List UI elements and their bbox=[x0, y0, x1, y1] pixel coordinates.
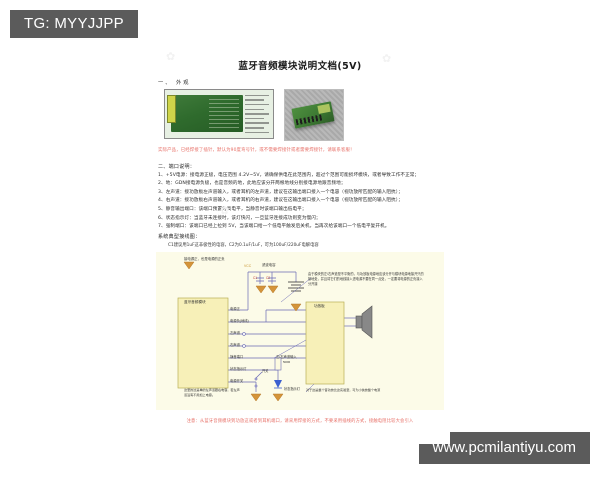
section-ports-label: 二、端口说明： bbox=[158, 163, 450, 170]
section-appearance-label: 一、 外观 bbox=[158, 79, 450, 86]
pin-label: 电源正 bbox=[230, 306, 240, 311]
filter-cap-label: 滤波电容 bbox=[262, 262, 276, 267]
pin-label: 右声道 bbox=[230, 342, 240, 347]
schematic-subnote: C1建议用1uF这非极性的电容，C2为0.1uF/1uF，可为100uF/220… bbox=[168, 242, 450, 248]
amp-block-label: 功放板 bbox=[314, 304, 325, 309]
module-photo-image bbox=[284, 89, 344, 141]
port-item: 1、+5V电源：接电源正极，电压范围 4.2V~5V，请确保供电在此范围内，超过… bbox=[158, 172, 442, 179]
pcb-top-view-image bbox=[164, 89, 274, 139]
port-item: 2、地：GDN接电源负极，也是音频的地，此地应该分开两根地线分别接电源地跟音频地… bbox=[158, 180, 442, 187]
port-item: 7、强制端口：该端口已经上拉到 5V，当该端口给一个低电平触发后关机，当再次给该… bbox=[158, 223, 442, 230]
schematic-heading: 系统典型接线图： bbox=[158, 233, 450, 240]
module-block-label: 蓝牙音频模块 bbox=[184, 300, 206, 305]
switch-label: 开关 bbox=[262, 368, 268, 373]
annotation-right: 由于模块的左/右声道是不平衡的，与功放板电源地应该分开与模块电源地接开只的接地处… bbox=[308, 272, 424, 286]
port-description-list: 1、+5V电源：接电源正极，电压范围 4.2V~5V，请确保供电在此范围内，超过… bbox=[158, 172, 442, 231]
port-item: 4、右声道：接功放板右声道输入，或者耳机的右声道，建议在这输出端口接入一个电容（… bbox=[158, 197, 442, 204]
annotation-bottom-left: 这里的这是单的左声道跟右电容，若左声道没有不用加上电容。 bbox=[184, 388, 242, 397]
port-item: 3、左声道：接功放板左声道输入，或者耳机的左声道，建议在这输出端口接入一个电容（… bbox=[158, 189, 442, 196]
resistor-label: 500R bbox=[283, 360, 290, 364]
led-label: 状态指示灯 bbox=[284, 386, 300, 391]
supply-note-label: 接电源正，也是电源的正负 bbox=[184, 256, 225, 261]
document-page: ✿ ✿ ✿ ✿ 蓝牙音频模块说明文档(5V) 一、 外观 实际产品，已经焊接了插… bbox=[150, 44, 450, 444]
tg-badge: TG: MYYJJPP bbox=[10, 10, 138, 38]
red-notice-top: 实际产品，已经焊接了插针，默认为90度弯号针，或不需要焊接针或者需要焊接针，请联… bbox=[158, 148, 442, 155]
red-notice-bottom: 注意：从蓝牙音频模块到功放这或者到耳机端口，请采用焊接的方式，不要采用插线的方式… bbox=[158, 419, 442, 425]
pin-label: 电源开关 bbox=[230, 378, 243, 383]
port-item: 5、静音输出端口：该端口预置为高电平，当静音时该端口输出低电平； bbox=[158, 206, 442, 213]
pin-label: 静音端口 bbox=[230, 354, 243, 359]
wiring-diagram: 接电源正，也是电源的正负 VCC 滤波电容 C1 C2 蓝牙音频模块 功放板 电… bbox=[156, 252, 444, 410]
amp-input-label: 左/右声道输入 bbox=[276, 354, 297, 359]
pin-label: 状态指示灯 bbox=[230, 366, 246, 371]
cap-c1-label: C1 bbox=[253, 276, 257, 280]
product-image-row bbox=[164, 89, 450, 141]
page-title: 蓝牙音频模块说明文档(5V) bbox=[150, 58, 450, 72]
pin-label: 左声道 bbox=[230, 330, 240, 335]
vcc-label: VCC bbox=[244, 264, 251, 268]
annotation-bottom-right: 对于这是整个音功放比这实验室，可为小信放整个电源 bbox=[306, 388, 416, 392]
port-item: 6、状态指示灯：当蓝牙未连接时，该灯快闪，一旦蓝牙连接成功则变为慢闪； bbox=[158, 215, 442, 222]
cap-c2-label: C2 bbox=[266, 276, 270, 280]
pin-label: 电源负(地线) bbox=[230, 318, 249, 323]
